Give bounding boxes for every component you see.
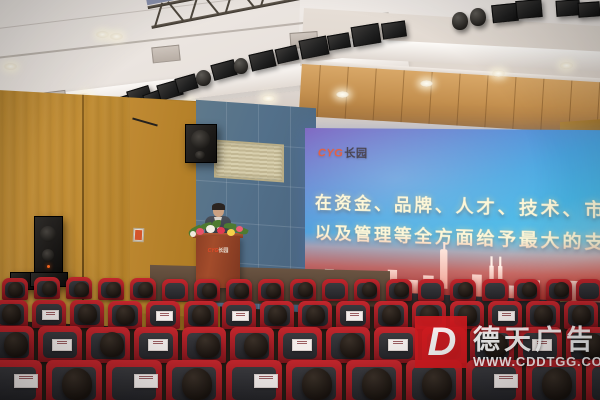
audience-head: [4, 332, 28, 357]
audience-head: [266, 283, 281, 298]
ceiling-downlight-3: [4, 63, 17, 70]
audience-head: [362, 368, 392, 400]
audience-head: [340, 333, 364, 358]
stage-light-14: [515, 0, 542, 19]
ceiling-downlight-6: [262, 95, 275, 102]
seat-name-card: [148, 339, 168, 351]
audience-head: [522, 282, 537, 297]
par-can-2: [234, 58, 248, 74]
seat-name-card: [346, 311, 363, 321]
seat: [418, 279, 444, 301]
ceiling-downlight-7: [336, 91, 349, 98]
stage-light-16: [578, 1, 600, 17]
audience-head: [8, 282, 23, 297]
seat: [482, 279, 508, 301]
seat-name-card: [232, 311, 249, 321]
audience-head: [62, 368, 92, 400]
acoustic-panel: [214, 140, 284, 183]
seat-name-card: [156, 311, 173, 321]
audience-head: [182, 368, 212, 400]
audience-head: [138, 282, 153, 297]
watermark-brand-name: 德天广告: [473, 318, 597, 357]
par-can-3: [452, 12, 468, 30]
audience-head: [2, 304, 21, 324]
seat: [322, 279, 348, 301]
watermark-url: WWW.CDDTGG.COM: [473, 354, 600, 369]
watermark-logo-box: D: [415, 316, 467, 368]
audience-head: [244, 333, 268, 358]
seat-name-card: [254, 374, 278, 388]
audience-head: [42, 281, 57, 296]
seat: [576, 279, 600, 301]
audience-head: [202, 283, 217, 298]
watermark-d-icon: D: [428, 322, 455, 362]
audience-head: [268, 305, 287, 325]
podium-logo-chinese: 长园: [218, 248, 228, 254]
seat-name-card: [292, 339, 312, 351]
seat-name-card: [134, 374, 158, 388]
floral-arrangement: [186, 219, 250, 239]
podium-logo-latin: CYG: [208, 248, 219, 254]
ceiling-downlight-2: [110, 33, 123, 40]
audience-head: [458, 282, 473, 297]
audience-head: [74, 282, 89, 297]
audience-head: [306, 305, 325, 325]
par-can-4: [470, 8, 486, 26]
audience-head: [100, 332, 124, 357]
audience-head: [382, 305, 401, 325]
podium-logo: CYG长园: [196, 247, 240, 254]
audience-head: [298, 282, 313, 297]
screen-brand-logo: CYG长园: [318, 144, 368, 161]
ceiling-downlight-10: [560, 62, 573, 69]
audience-head: [554, 282, 569, 297]
par-can-1: [196, 70, 211, 86]
audience-head: [192, 305, 211, 325]
screen-logo-latin: CYG: [318, 147, 343, 159]
photo-canvas: CYG长园 在资金、品牌、人才、技术、市场 以及管理等全方面给予最大的支持: [0, 0, 600, 400]
audience-head: [106, 282, 121, 297]
wall-speaker-left: [34, 216, 63, 274]
ceiling-downlight-1: [96, 31, 109, 38]
audience-head: [78, 304, 97, 324]
audience-head: [302, 368, 332, 400]
exit-sign: [133, 228, 145, 243]
audience-head: [362, 282, 377, 297]
audience-head: [196, 333, 220, 358]
wall-speaker-upper-left: [185, 124, 217, 163]
ceiling-downlight-8: [420, 80, 433, 87]
seat-name-card: [52, 339, 72, 351]
ceiling-downlight-9: [492, 70, 505, 77]
stage-light-12: [381, 20, 407, 39]
seat-name-card: [42, 310, 59, 320]
seat-name-card: [14, 374, 38, 388]
screen-logo-chinese: 长园: [344, 147, 367, 159]
audience-head: [234, 283, 249, 298]
watermark: D 德天广告 WWW.CDDTGG.COM: [415, 316, 595, 380]
audience-head: [394, 282, 409, 297]
ceiling-vent-1: [151, 45, 181, 64]
seat: [162, 279, 188, 301]
audience-head: [116, 305, 135, 325]
seat-name-card: [388, 339, 408, 351]
